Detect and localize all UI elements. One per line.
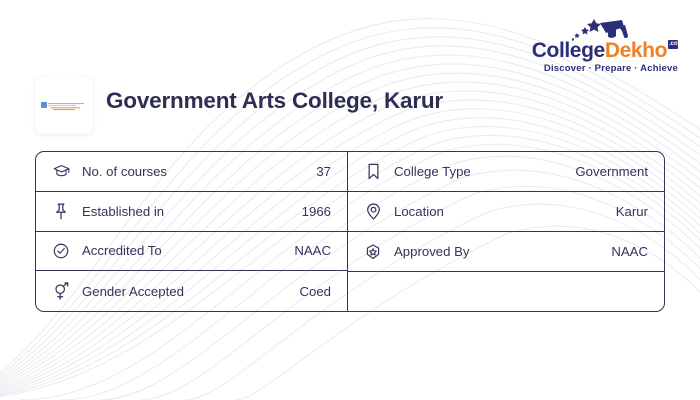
table-row: Gender Accepted Coed xyxy=(36,271,347,311)
brand-tagline: Discover · Prepare · Achieve xyxy=(510,63,678,74)
pin-icon xyxy=(50,202,72,220)
check-circle-icon xyxy=(50,242,72,260)
gender-icon xyxy=(50,282,72,300)
table-row: Accredited To NAAC xyxy=(36,232,347,272)
table-row-empty xyxy=(348,272,664,311)
row-label: Approved By xyxy=(394,244,611,259)
college-logo-art xyxy=(41,100,87,112)
page-root: CollegeDekho.com Discover · Prepare · Ac… xyxy=(0,0,700,400)
college-logo-thumbnail xyxy=(35,76,93,134)
row-value: Coed xyxy=(299,284,331,299)
row-label: Gender Accepted xyxy=(82,284,299,299)
table-row: Location Karur xyxy=(348,192,664,232)
brand-name-college: College xyxy=(532,39,605,62)
page-title: Government Arts College, Karur xyxy=(106,88,443,114)
map-pin-icon xyxy=(362,203,384,221)
row-label: Established in xyxy=(82,204,302,219)
bookmark-icon xyxy=(362,163,384,181)
graduation-cap-icon xyxy=(50,162,72,180)
award-icon xyxy=(362,243,384,261)
row-label: No. of courses xyxy=(82,164,316,179)
brand-name-dekho: Dekho xyxy=(605,39,667,62)
table-row: Established in 1966 xyxy=(36,192,347,232)
brand-wordmark: CollegeDekho.com xyxy=(510,40,678,61)
college-info-table: No. of courses 37 Established in 1966 xyxy=(35,151,665,312)
table-row: No. of courses 37 xyxy=(36,152,347,192)
row-label: Accredited To xyxy=(82,243,294,258)
table-row: College Type Government xyxy=(348,152,664,192)
table-row: Approved By NAAC xyxy=(348,232,664,272)
row-value: Government xyxy=(575,164,648,179)
row-value: 1966 xyxy=(302,204,331,219)
info-column-right: College Type Government Location Karur xyxy=(348,152,664,311)
row-value: NAAC xyxy=(294,243,331,258)
row-label: College Type xyxy=(394,164,575,179)
row-label: Location xyxy=(394,204,616,219)
row-value: Karur xyxy=(616,204,648,219)
brand-dotcom-badge: .com xyxy=(668,40,678,49)
info-column-left: No. of courses 37 Established in 1966 xyxy=(36,152,348,311)
collegedekho-logo[interactable]: CollegeDekho.com Discover · Prepare · Ac… xyxy=(510,20,678,76)
row-value: NAAC xyxy=(611,244,648,259)
row-value: 37 xyxy=(316,164,331,179)
